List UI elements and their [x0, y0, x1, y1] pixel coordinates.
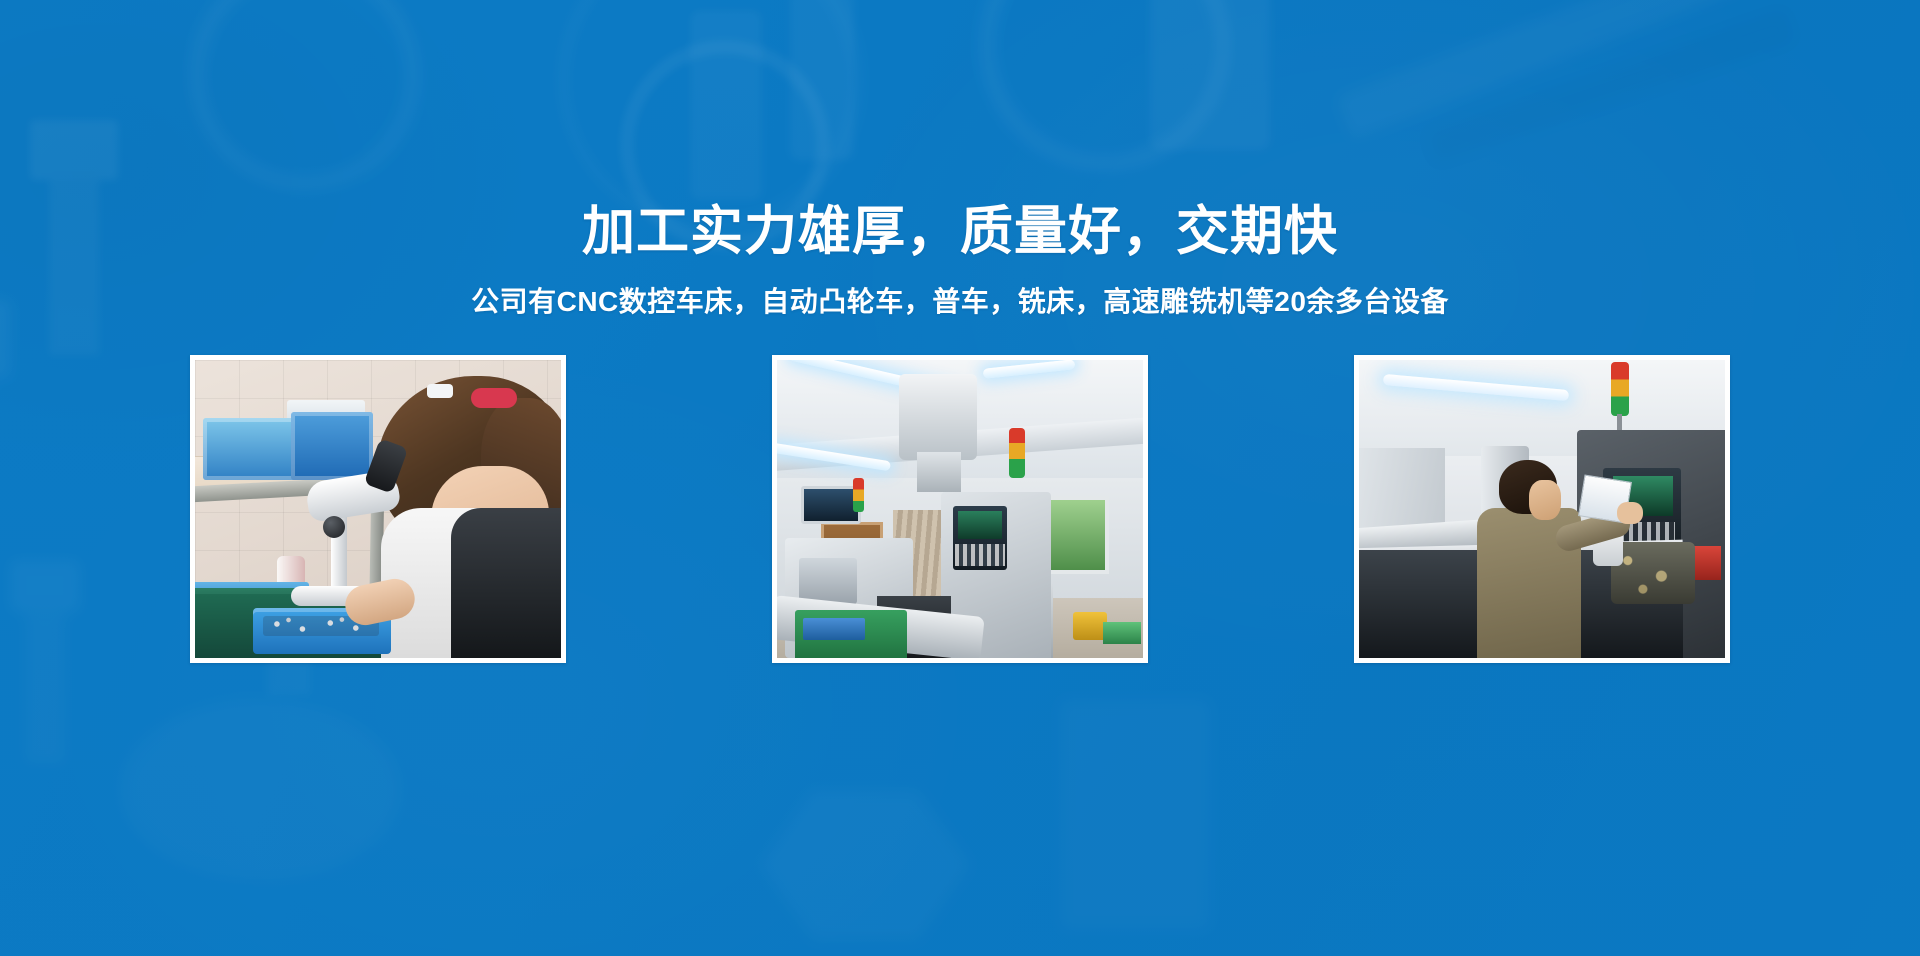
gallery-photo-quality-inspection[interactable]: 员工使用显微镜检测零件 — [190, 355, 566, 663]
banner-subheadline: 公司有CNC数控车床，自动凸轮车，普车，铣床，高速雕铣机等20余多台设备 — [0, 281, 1920, 323]
photo-image-quality-inspection — [195, 360, 561, 658]
photo-image-machine-operator — [1359, 360, 1725, 658]
photo-gallery: 员工使用显微镜检测零件 — [190, 355, 1730, 663]
banner-content: 加工实力雄厚，质量好，交期快 公司有CNC数控车床，自动凸轮车，普车，铣床，高速… — [0, 0, 1920, 956]
photo-image-cnc-workshop — [777, 360, 1143, 658]
gallery-photo-machine-operator[interactable]: 技术员操作数控设备 — [1354, 355, 1730, 663]
gallery-photo-cnc-workshop[interactable]: CNC数控车床车间 — [772, 355, 1148, 663]
banner-headline: 加工实力雄厚，质量好，交期快 — [0, 197, 1920, 267]
